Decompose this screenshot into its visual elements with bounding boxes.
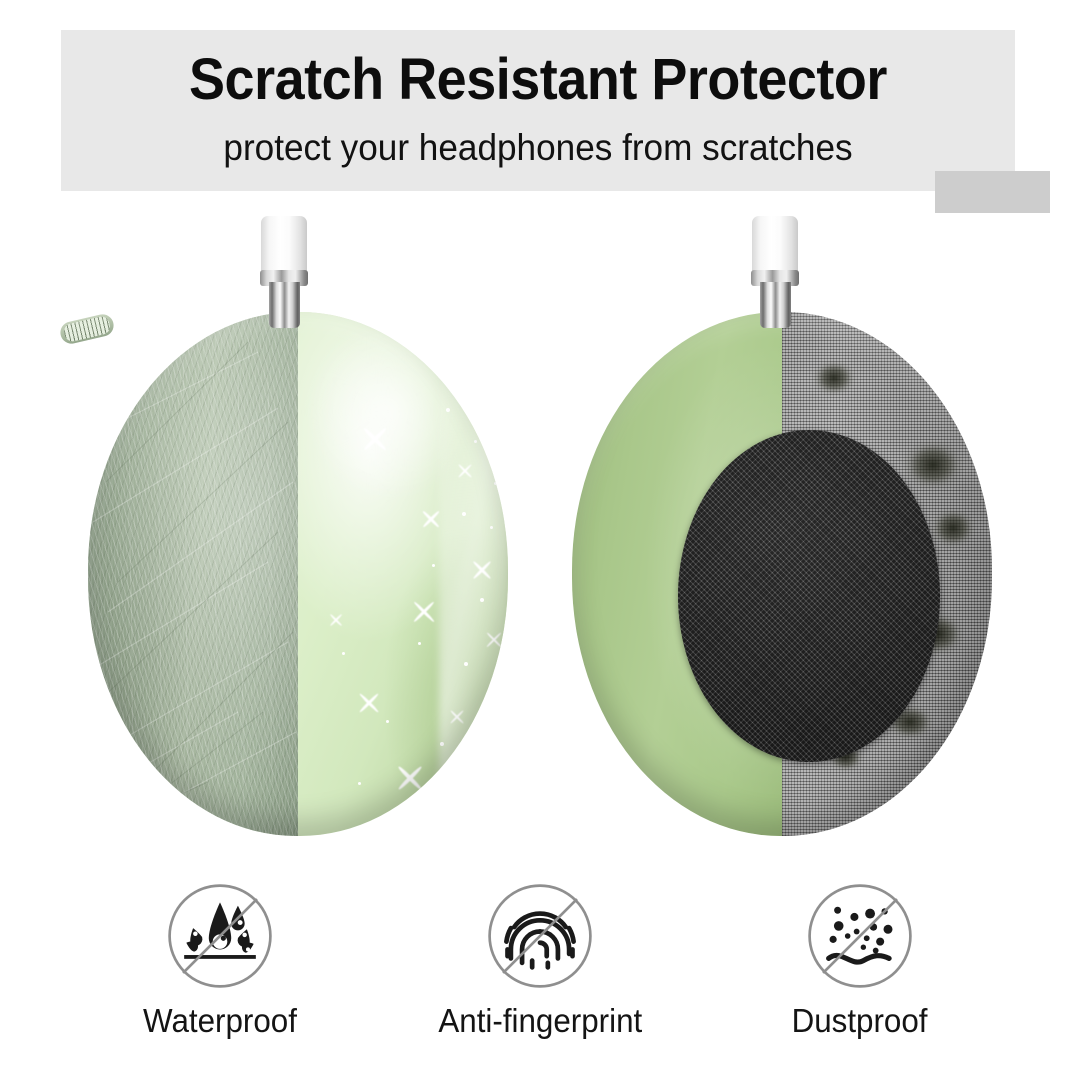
- fingerprint-slash-icon: [484, 880, 596, 992]
- left-headband-stem: [261, 216, 307, 328]
- sparkle-dot: [494, 482, 497, 485]
- dirt-stain: [922, 760, 962, 792]
- stem-white-body: [261, 216, 307, 274]
- sparkle-icon: [356, 690, 382, 716]
- sparkle-dot: [432, 564, 435, 567]
- sparkle-dot: [480, 598, 484, 602]
- dirt-stain: [812, 360, 856, 396]
- header-banner: Scratch Resistant Protector protect your…: [61, 30, 1015, 191]
- stem-white-body: [752, 216, 798, 274]
- inner-pad-mesh-texture: [678, 430, 940, 762]
- sparkle-icon: [394, 762, 426, 794]
- sparkle-icon: [328, 612, 344, 628]
- inner-ear-pad: [678, 430, 940, 762]
- product-marketing-image: Scratch Resistant Protector protect your…: [0, 0, 1080, 1080]
- left-earcup-comparison: [88, 312, 508, 836]
- right-headband-stem: [752, 216, 798, 328]
- sparkle-dot: [386, 720, 389, 723]
- sparkle-dot: [418, 642, 421, 645]
- sparkle-dot: [474, 440, 477, 443]
- feature-waterproof: Waterproof: [113, 880, 328, 1040]
- feature-dustproof: Dustproof: [753, 880, 968, 1040]
- page-title: Scratch Resistant Protector: [94, 48, 981, 112]
- sparkle-dot: [490, 526, 493, 529]
- dust-particles-slash-icon: [804, 880, 916, 992]
- sparkle-dot: [446, 408, 450, 412]
- feature-label: Dustproof: [792, 1002, 928, 1040]
- earcup-protected-half: [298, 312, 508, 836]
- sparkle-dot: [440, 742, 444, 746]
- sparkle-dot: [464, 662, 468, 666]
- page-subtitle: protect your headphones from scratches: [85, 126, 991, 170]
- right-earcup-comparison: [572, 312, 992, 836]
- sparkle-dot: [342, 652, 345, 655]
- sparkle-dot: [358, 782, 361, 785]
- feature-anti-fingerprint: Anti-fingerprint: [433, 880, 648, 1040]
- earcup-scratched-half: [88, 312, 298, 836]
- water-drop-slash-icon: [164, 880, 276, 992]
- gloss-highlight-edge: [439, 343, 508, 804]
- sparkle-dot: [462, 512, 466, 516]
- corner-badge-placeholder: [935, 171, 1050, 213]
- sparkle-dot: [472, 732, 475, 735]
- feature-label: Waterproof: [143, 1002, 297, 1040]
- stem-chrome-post: [269, 282, 300, 328]
- scratch-marks: [88, 312, 298, 836]
- stem-chrome-post: [760, 282, 791, 328]
- feature-label: Anti-fingerprint: [438, 1002, 642, 1040]
- sparkle-icon: [410, 598, 438, 626]
- feature-row: Waterproof: [0, 880, 1080, 1060]
